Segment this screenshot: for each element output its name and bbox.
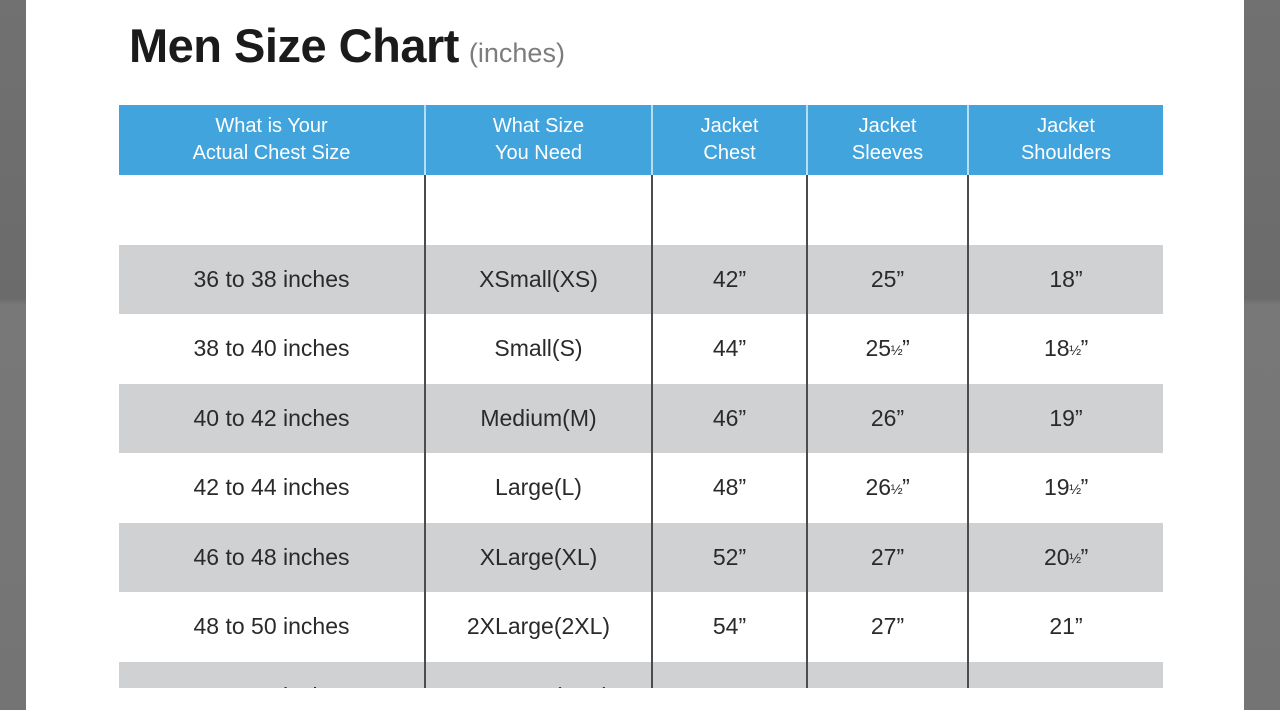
column-header-line-1: What Size (430, 113, 647, 140)
cell-jacket-chest: 44” (652, 314, 807, 384)
column-header-line-1: What is Your (123, 113, 420, 140)
cell-jacket-shoulders: 18” (968, 245, 1163, 315)
header-gap-row (119, 175, 1163, 245)
cell-jacket-chest: 54” (652, 592, 807, 662)
cell-size-you-need: Large(L) (425, 453, 652, 523)
cell-jacket-chest: 48” (652, 453, 807, 523)
slide-page: Men Size Chart (inches) What is Your Act… (26, 0, 1244, 710)
cell-size-you-need: Small(S) (425, 314, 652, 384)
column-header-actual-chest-size: What is Your Actual Chest Size (119, 105, 425, 175)
table-row: 40 to 42 inchesMedium(M)46”26”19” (119, 384, 1163, 454)
column-header-jacket-chest: Jacket Chest (652, 105, 807, 175)
size-chart-table: What is Your Actual Chest Size What Size… (119, 105, 1163, 710)
cell-jacket-chest: 52” (652, 523, 807, 593)
cell-jacket-sleeves: 27” (807, 592, 968, 662)
header-gap-cell (807, 175, 968, 245)
column-header-line-2: Actual Chest Size (123, 140, 420, 167)
header-gap-cell (425, 175, 652, 245)
column-header-line-1: Jacket (973, 113, 1159, 140)
slide-frame-band-right (1244, 0, 1280, 710)
cell-jacket-sleeves: 25” (807, 245, 968, 315)
slide-bottom-strip (26, 688, 1244, 710)
cell-jacket-shoulders: 21” (968, 592, 1163, 662)
column-header-line-1: Jacket (657, 113, 802, 140)
cell-jacket-sleeves: 27” (807, 523, 968, 593)
table-row: 36 to 38 inchesXSmall(XS)42”25”18” (119, 245, 1163, 315)
header-gap-cell (652, 175, 807, 245)
table-row: 42 to 44 inchesLarge(L)48”26½”19½” (119, 453, 1163, 523)
cell-size-you-need: 2XLarge(2XL) (425, 592, 652, 662)
table-body: 36 to 38 inchesXSmall(XS)42”25”18”38 to … (119, 175, 1163, 710)
cell-jacket-shoulders: 19” (968, 384, 1163, 454)
header-gap-cell (119, 175, 425, 245)
slide-frame-band-left (0, 0, 26, 710)
column-header-line-1: Jacket (812, 113, 963, 140)
cell-jacket-shoulders: 20½” (968, 523, 1163, 593)
column-header-line-2: Sleeves (812, 140, 963, 167)
table-header-row: What is Your Actual Chest Size What Size… (119, 105, 1163, 175)
cell-jacket-shoulders: 19½” (968, 453, 1163, 523)
cell-actual-chest-size: 38 to 40 inches (119, 314, 425, 384)
column-header-line-2: You Need (430, 140, 647, 167)
column-header-size-you-need: What Size You Need (425, 105, 652, 175)
table-row: 48 to 50 inches2XLarge(2XL)54”27”21” (119, 592, 1163, 662)
column-header-jacket-shoulders: Jacket Shoulders (968, 105, 1163, 175)
cell-size-you-need: XSmall(XS) (425, 245, 652, 315)
cell-actual-chest-size: 46 to 48 inches (119, 523, 425, 593)
header-gap-cell (968, 175, 1163, 245)
cell-jacket-sleeves: 25½” (807, 314, 968, 384)
column-header-line-2: Shoulders (973, 140, 1159, 167)
column-header-line-2: Chest (657, 140, 802, 167)
cell-actual-chest-size: 40 to 42 inches (119, 384, 425, 454)
cell-jacket-shoulders: 18½” (968, 314, 1163, 384)
cell-jacket-chest: 46” (652, 384, 807, 454)
cell-size-you-need: XLarge(XL) (425, 523, 652, 593)
page-title-main: Men Size Chart (129, 18, 459, 73)
column-header-jacket-sleeves: Jacket Sleeves (807, 105, 968, 175)
cell-jacket-chest: 42” (652, 245, 807, 315)
cell-actual-chest-size: 36 to 38 inches (119, 245, 425, 315)
cell-jacket-sleeves: 26½” (807, 453, 968, 523)
cell-actual-chest-size: 48 to 50 inches (119, 592, 425, 662)
cell-jacket-sleeves: 26” (807, 384, 968, 454)
table-row: 46 to 48 inchesXLarge(XL)52”27”20½” (119, 523, 1163, 593)
cell-size-you-need: Medium(M) (425, 384, 652, 454)
table-header: What is Your Actual Chest Size What Size… (119, 105, 1163, 175)
page-title-unit: (inches) (469, 38, 565, 69)
table-row: 38 to 40 inchesSmall(S)44”25½”18½” (119, 314, 1163, 384)
cell-actual-chest-size: 42 to 44 inches (119, 453, 425, 523)
page-title: Men Size Chart (inches) (129, 18, 565, 73)
